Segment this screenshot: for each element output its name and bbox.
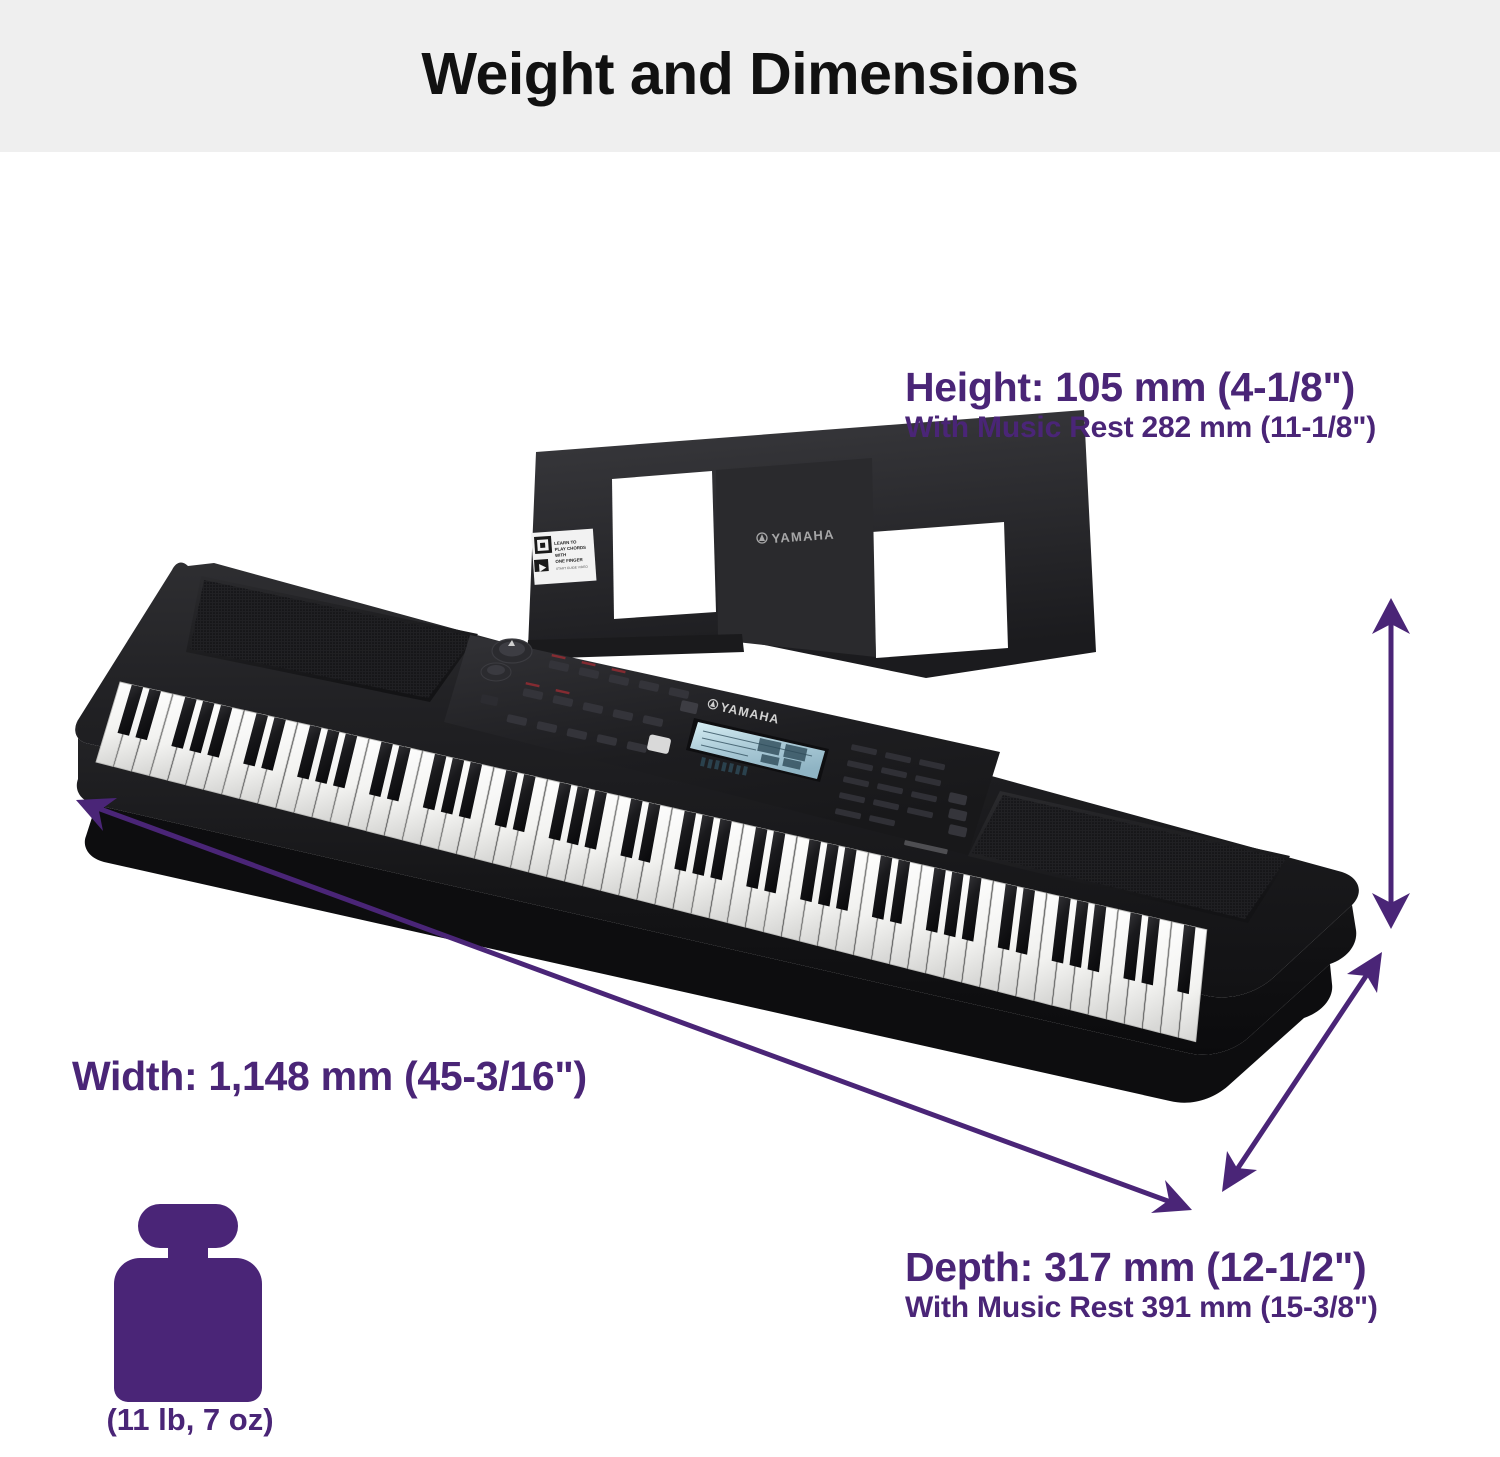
music-rest: YAMAHA LEARN TO PLAY CHORDS WITH ONE FIN… xyxy=(526,410,1096,678)
svg-text:WITH: WITH xyxy=(555,552,567,558)
weight-imperial: (11 lb, 7 oz) xyxy=(60,1402,320,1438)
volume-dial[interactable] xyxy=(492,639,532,663)
width-label: Width: 1,148 mm (45-3/16") xyxy=(72,1055,587,1098)
width-callout: Width: 1,148 mm (45-3/16") xyxy=(72,1055,587,1098)
height-callout: Height: 105 mm (4-1/8") With Music Rest … xyxy=(905,366,1376,445)
weight-badge: 5.2 kg xyxy=(88,1198,288,1408)
tempo-buttons[interactable] xyxy=(948,792,968,838)
infographic-canvas: Weight and Dimensions xyxy=(0,0,1500,1457)
qr-code-sticker: LEARN TO PLAY CHORDS WITH ONE FINGER STA… xyxy=(531,529,596,585)
depth-label: Depth: 317 mm (12-1/2") xyxy=(905,1246,1378,1289)
height-sublabel: With Music Rest 282 mm (11-1/8") xyxy=(905,411,1376,445)
secondary-dial[interactable] xyxy=(481,663,511,681)
depth-callout: Depth: 317 mm (12-1/2") With Music Rest … xyxy=(905,1246,1378,1325)
depth-sublabel: With Music Rest 391 mm (15-3/8") xyxy=(905,1291,1378,1325)
height-label: Height: 105 mm (4-1/8") xyxy=(905,366,1376,409)
weight-icon xyxy=(88,1198,288,1408)
